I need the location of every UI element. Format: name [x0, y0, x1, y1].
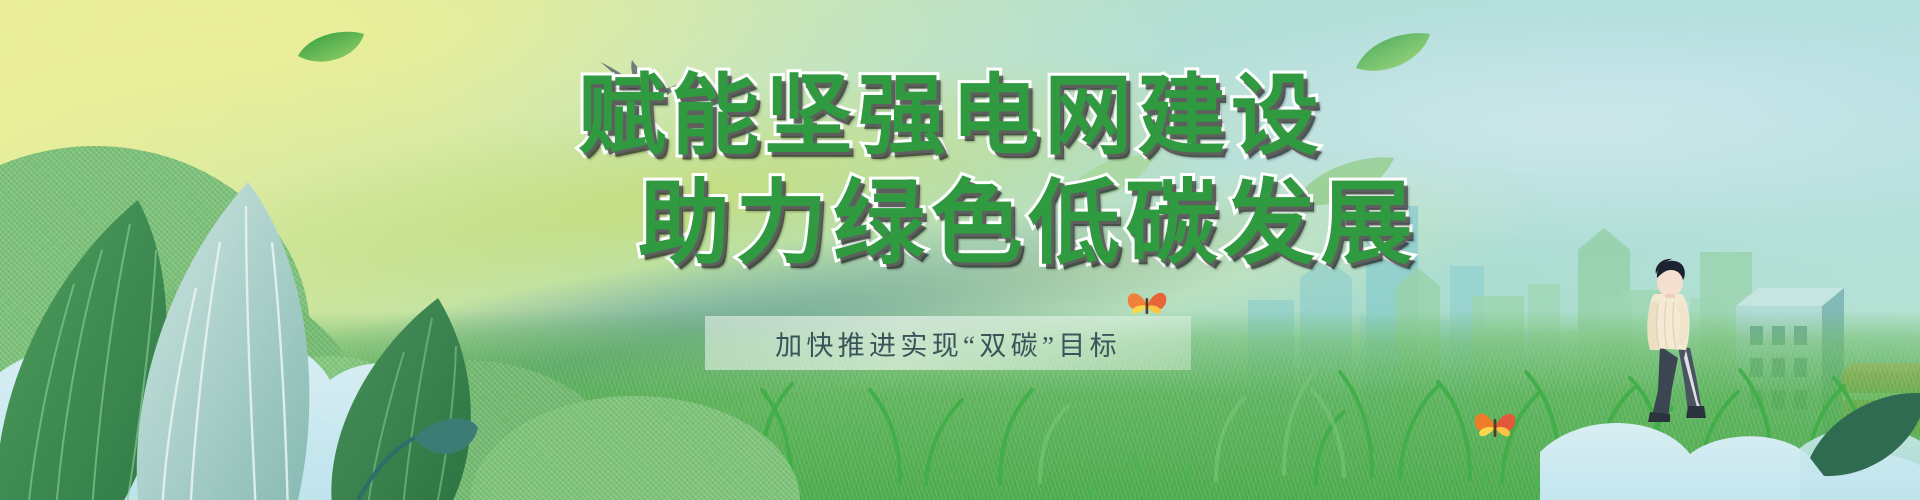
floating-leaf-icon-3 — [1288, 152, 1398, 214]
floating-leaf-icon-2 — [1352, 28, 1432, 78]
butterfly-icon-2[interactable] — [1472, 408, 1518, 446]
subtitle-band: 加快推进实现“双碳”目标 — [705, 316, 1191, 370]
leaf-dark-right — [1800, 376, 1920, 486]
walking-person-icon — [1628, 252, 1714, 422]
swallow-icon — [596, 56, 686, 108]
floating-leaf-icon-4 — [1062, 150, 1158, 206]
subtitle-text: 加快推进实现“双碳”目标 — [775, 324, 1121, 363]
floating-leaf-icon-1 — [296, 26, 366, 70]
leaf-on-stem-icon — [330, 362, 480, 500]
green-banner: 赋能坚强电网建设 助力绿色低碳发展 加快推进实现“双碳”目标 — [0, 0, 1920, 500]
